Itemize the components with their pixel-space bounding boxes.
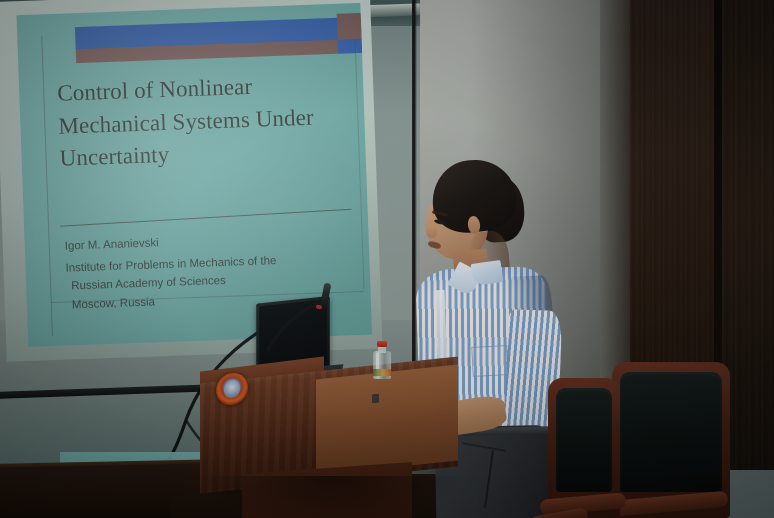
shirt-pocket xyxy=(471,345,509,377)
podium-front-panel-lit xyxy=(316,365,458,476)
podium xyxy=(196,356,452,518)
presentation-photo-scene: Control of Nonlinear Mechanical Systems … xyxy=(0,0,774,518)
presentation-slide: Control of Nonlinear Mechanical Systems … xyxy=(16,3,372,347)
podium-fitting xyxy=(372,394,379,404)
water-bottle xyxy=(373,341,391,379)
slide-title-divider xyxy=(60,209,352,227)
slide-title: Control of Nonlinear Mechanical Systems … xyxy=(57,67,360,176)
nose xyxy=(426,226,438,239)
armchair-cushion xyxy=(620,372,722,492)
slide-left-rule xyxy=(41,36,53,336)
podium-seal-center xyxy=(224,379,240,399)
bottle-label xyxy=(373,369,391,376)
armchair-right xyxy=(612,362,730,518)
slide-band-brown-tab xyxy=(337,13,364,40)
bottle-cap xyxy=(377,341,387,347)
microphone-indicator-ring xyxy=(316,304,323,309)
armchair-left xyxy=(548,378,620,518)
podium-shadow xyxy=(196,476,466,518)
armchair-cushion xyxy=(556,388,612,492)
slide-band-blue-tab xyxy=(338,39,364,54)
